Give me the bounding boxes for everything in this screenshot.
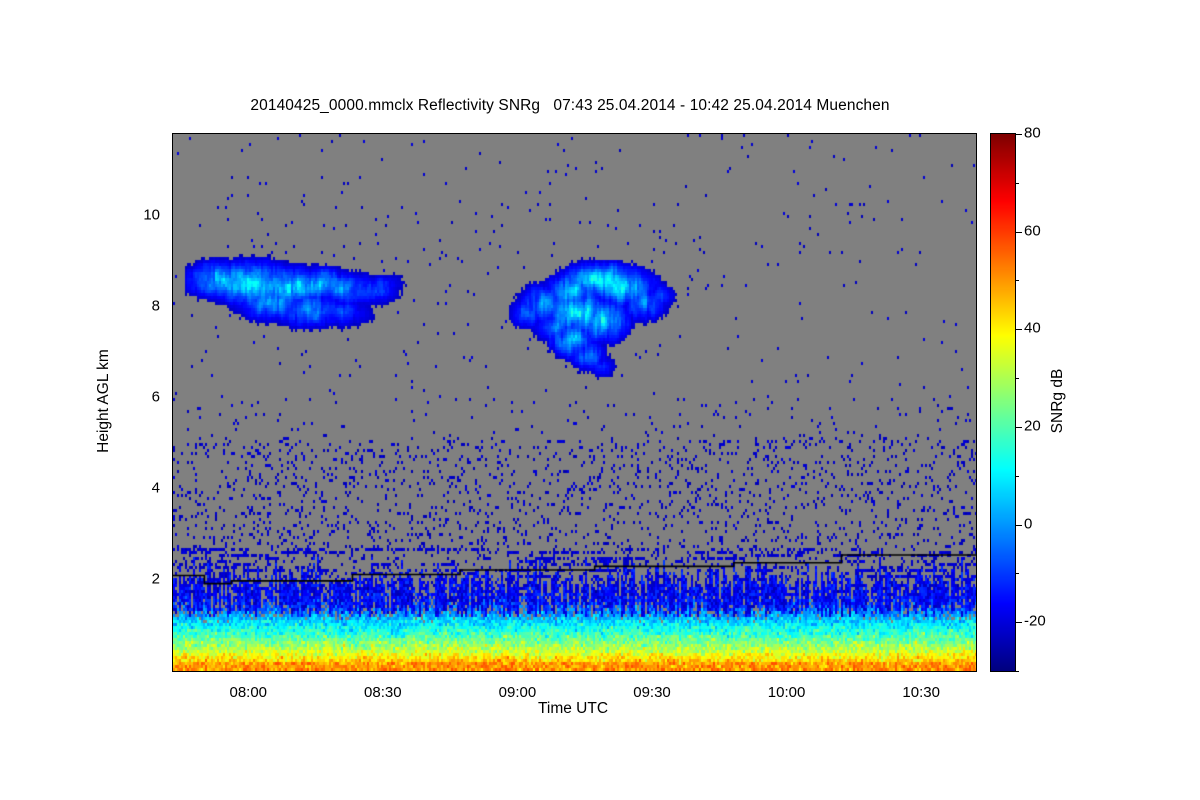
- x-axis-tick: [788, 133, 789, 134]
- x-axis-minor-tick: [294, 671, 295, 672]
- y-axis-minor-tick: [172, 352, 173, 353]
- y-axis-minor-tick: [976, 284, 977, 285]
- y-axis-minor-tick: [976, 625, 977, 626]
- x-axis-tick: [922, 133, 923, 134]
- y-axis-tick: [976, 216, 977, 217]
- y-axis-minor-tick: [172, 375, 173, 376]
- y-axis-minor-tick: [172, 512, 173, 513]
- y-axis-minor-tick: [976, 421, 977, 422]
- y-axis-tick: [172, 307, 173, 308]
- colorbar-tick: [1015, 232, 1022, 233]
- x-axis-minor-tick: [429, 133, 430, 134]
- x-axis-minor-tick: [832, 671, 833, 672]
- y-axis-minor-tick: [172, 625, 173, 626]
- y-axis-minor-tick: [976, 170, 977, 171]
- y-axis-minor-tick: [172, 330, 173, 331]
- colorbar-tick-label: 0: [1024, 515, 1032, 532]
- x-axis-tick-label: 08:30: [364, 684, 402, 701]
- y-axis-minor-tick: [172, 443, 173, 444]
- y-axis-label: Height AGL km: [95, 349, 113, 453]
- colorbar-minor-tick: [1015, 183, 1019, 184]
- x-axis-minor-tick: [294, 133, 295, 134]
- y-axis-minor-tick: [172, 534, 173, 535]
- colorbar-tick-label: -20: [1024, 613, 1046, 630]
- x-axis-tick: [788, 671, 789, 672]
- reflectivity-heatmap-canvas: [173, 134, 976, 671]
- colorbar-minor-tick: [1015, 378, 1019, 379]
- y-axis-minor-tick: [976, 603, 977, 604]
- x-axis-label: Time UTC: [538, 700, 608, 718]
- x-axis-minor-tick: [967, 133, 968, 134]
- x-axis-tick: [653, 133, 654, 134]
- y-axis-tick: [976, 398, 977, 399]
- x-axis-tick-label: 08:00: [229, 684, 267, 701]
- colorbar-tick-label: 80: [1024, 125, 1041, 142]
- x-axis-tick: [922, 671, 923, 672]
- y-axis-minor-tick: [976, 193, 977, 194]
- y-axis-tick: [172, 580, 173, 581]
- x-axis-minor-tick: [339, 133, 340, 134]
- colorbar-minor-tick: [1015, 671, 1019, 672]
- y-axis-minor-tick: [172, 557, 173, 558]
- colorbar-tick: [1015, 329, 1022, 330]
- y-axis-minor-tick: [172, 421, 173, 422]
- radar-reflectivity-figure: 20140425_0000.mmclx Reflectivity SNRg 07…: [0, 0, 1200, 800]
- x-axis-tick-label: 09:00: [499, 684, 537, 701]
- x-axis-minor-tick: [204, 671, 205, 672]
- colorbar-minor-tick: [1015, 476, 1019, 477]
- x-axis-minor-tick: [563, 671, 564, 672]
- y-axis-tick-label: 10: [143, 206, 160, 223]
- colorbar-label: SNRg dB: [1049, 369, 1067, 434]
- x-axis-tick: [249, 133, 250, 134]
- x-axis-minor-tick: [832, 133, 833, 134]
- x-axis-minor-tick: [563, 133, 564, 134]
- y-axis-minor-tick: [172, 648, 173, 649]
- x-axis-tick: [518, 671, 519, 672]
- x-axis-minor-tick: [967, 671, 968, 672]
- colorbar-tick: [1015, 134, 1022, 135]
- y-axis-tick-label: 4: [152, 479, 160, 496]
- x-axis-tick: [518, 133, 519, 134]
- x-axis-minor-tick: [474, 671, 475, 672]
- colorbar-tick-label: 40: [1024, 320, 1041, 337]
- y-axis-tick-label: 6: [152, 388, 160, 405]
- y-axis-minor-tick: [172, 603, 173, 604]
- x-axis-tick-label: 10:30: [902, 684, 940, 701]
- plot-area[interactable]: [172, 133, 977, 672]
- y-axis-minor-tick: [172, 239, 173, 240]
- y-axis-minor-tick: [976, 648, 977, 649]
- x-axis-minor-tick: [698, 671, 699, 672]
- x-axis-minor-tick: [877, 133, 878, 134]
- y-axis-minor-tick: [172, 148, 173, 149]
- y-axis-tick: [976, 307, 977, 308]
- colorbar-tick-label: 60: [1024, 222, 1041, 239]
- colorbar-minor-tick: [1015, 573, 1019, 574]
- y-axis-minor-tick: [976, 375, 977, 376]
- y-axis-minor-tick: [976, 330, 977, 331]
- y-axis-minor-tick: [172, 170, 173, 171]
- x-axis-minor-tick: [877, 671, 878, 672]
- y-axis-minor-tick: [172, 193, 173, 194]
- y-axis-tick: [976, 489, 977, 490]
- x-axis-minor-tick: [743, 133, 744, 134]
- y-axis-minor-tick: [976, 443, 977, 444]
- y-axis-minor-tick: [976, 466, 977, 467]
- y-axis-minor-tick: [976, 557, 977, 558]
- x-axis-tick: [249, 671, 250, 672]
- x-axis-minor-tick: [743, 671, 744, 672]
- x-axis-minor-tick: [608, 133, 609, 134]
- x-axis-minor-tick: [339, 671, 340, 672]
- colorbar-tick: [1015, 622, 1022, 623]
- y-axis-tick: [976, 580, 977, 581]
- y-axis-tick: [172, 489, 173, 490]
- y-axis-tick: [172, 216, 173, 217]
- colorbar-tick-label: 20: [1024, 417, 1041, 434]
- colorbar-tick: [1015, 427, 1022, 428]
- x-axis-minor-tick: [474, 133, 475, 134]
- y-axis-minor-tick: [172, 261, 173, 262]
- colorbar-minor-tick: [1015, 280, 1019, 281]
- x-axis-tick: [384, 671, 385, 672]
- x-axis-minor-tick: [698, 133, 699, 134]
- y-axis-minor-tick: [172, 466, 173, 467]
- x-axis-minor-tick: [608, 671, 609, 672]
- y-axis-minor-tick: [172, 284, 173, 285]
- colorbar[interactable]: [990, 133, 1016, 672]
- x-axis-tick: [653, 671, 654, 672]
- y-axis-minor-tick: [976, 534, 977, 535]
- y-axis-minor-tick: [976, 512, 977, 513]
- x-axis-tick: [384, 133, 385, 134]
- colorbar-gradient: [991, 134, 1015, 671]
- colorbar-tick: [1015, 525, 1022, 526]
- page-title: 20140425_0000.mmclx Reflectivity SNRg 07…: [0, 97, 1140, 115]
- y-axis-minor-tick: [976, 148, 977, 149]
- x-axis-tick-label: 10:00: [768, 684, 806, 701]
- y-axis-tick-label: 8: [152, 297, 160, 314]
- y-axis-minor-tick: [976, 239, 977, 240]
- x-axis-minor-tick: [204, 133, 205, 134]
- y-axis-minor-tick: [976, 352, 977, 353]
- x-axis-minor-tick: [429, 671, 430, 672]
- x-axis-tick-label: 09:30: [633, 684, 671, 701]
- y-axis-minor-tick: [976, 261, 977, 262]
- y-axis-tick: [172, 398, 173, 399]
- y-axis-tick-label: 2: [152, 570, 160, 587]
